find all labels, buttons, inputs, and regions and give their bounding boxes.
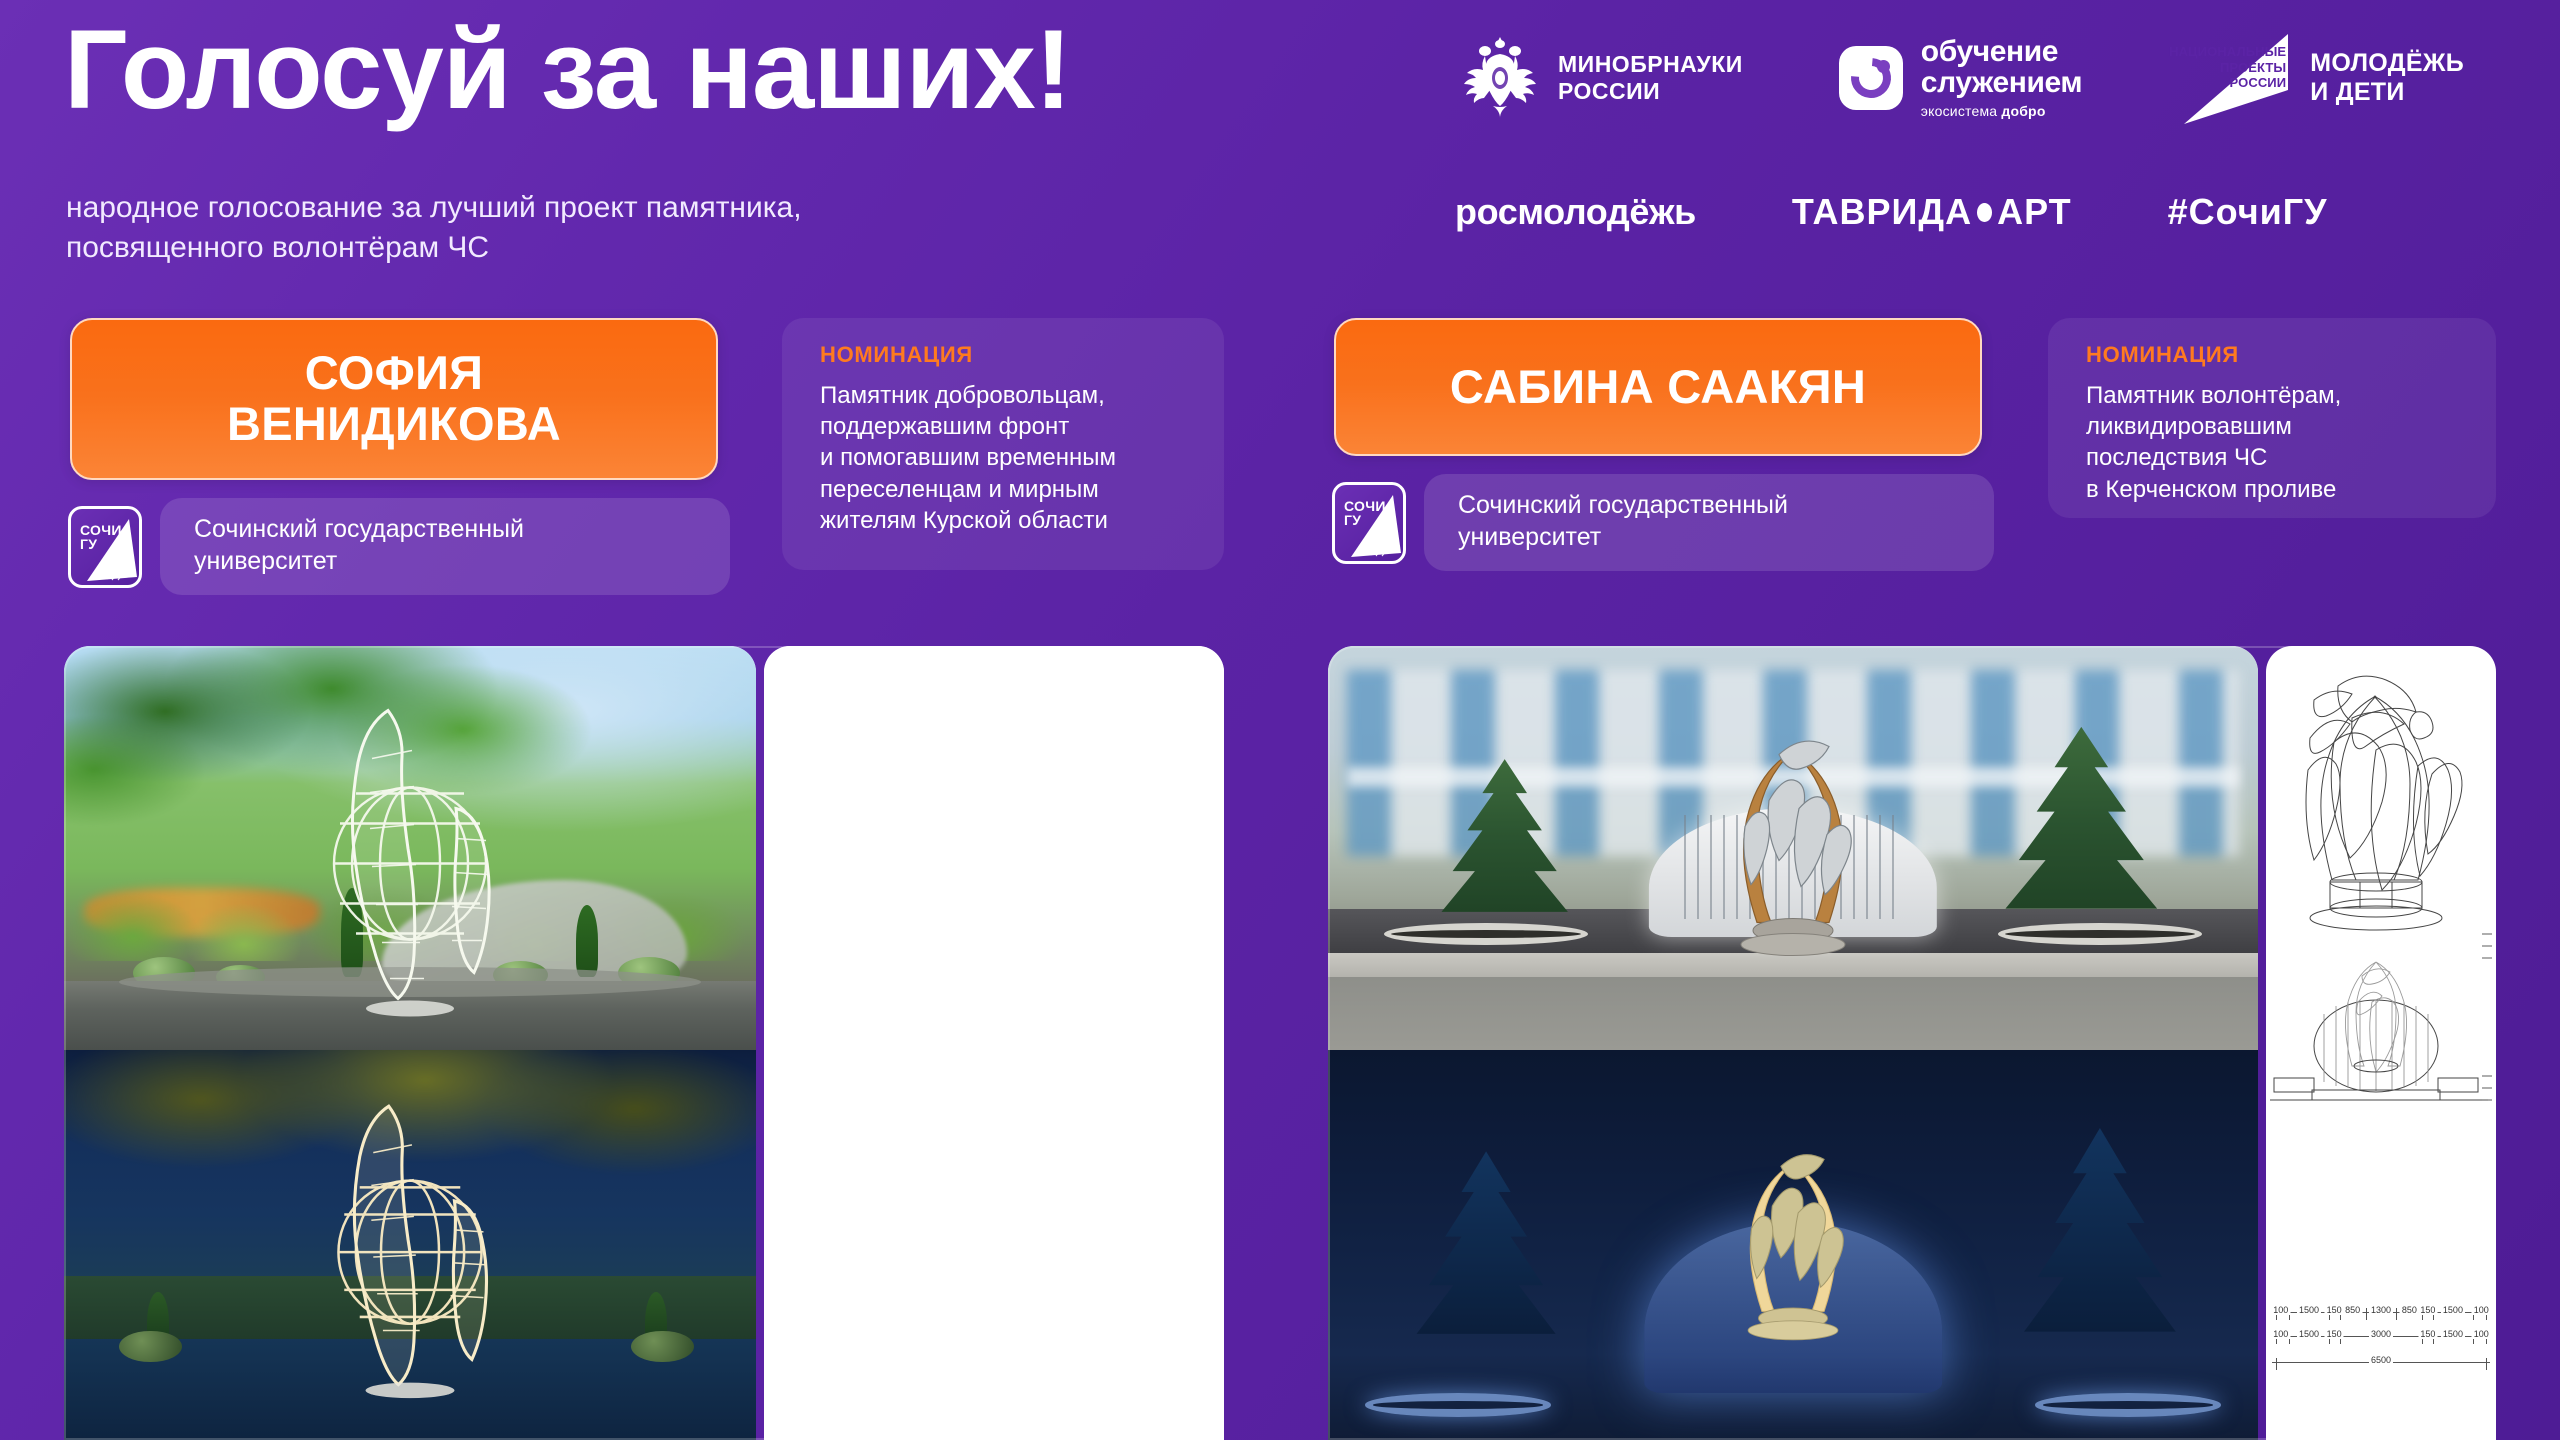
dolphin-sculpture-icon	[1683, 708, 1903, 963]
technical-drawing-icon	[2266, 646, 2496, 1306]
nomination-description: Памятник добровольцам, поддержавшим фрон…	[820, 380, 1206, 536]
obuchenie-sluzheniem-logo: обучение служением экосистема добро	[1839, 37, 2082, 119]
national-projects-flag-label: НАЦИОНАЛЬНЫЕ ПРОЕКТЫ РОССИИ	[2169, 44, 2286, 91]
dimension-total-value: 6500	[2369, 1355, 2393, 1365]
dimension-value: 150	[2325, 1329, 2344, 1339]
university-row: СОЧИ ГУ Сочинский государственный универ…	[68, 498, 730, 595]
nomination-panel: НОМИНАЦИЯ Памятник добровольцам, поддерж…	[782, 318, 1224, 570]
dimension-value: 1500	[2297, 1305, 2321, 1315]
dimension-value: 850	[2343, 1305, 2362, 1315]
nomination-label: НОМИНАЦИЯ	[820, 342, 973, 368]
sochigu-hashtag-wordmark: #СочиГУ	[2168, 191, 2328, 233]
dimension-value: 100	[2472, 1329, 2491, 1339]
university-name-pill: Сочинский государственный университет	[1424, 474, 1994, 571]
dimension-value: 100	[2271, 1305, 2290, 1315]
rosmolodezh-wordmark: росмолодёжь	[1455, 191, 1696, 233]
obuchenie-sluzheniem-label: обучение служением	[1921, 37, 2082, 98]
national-projects-flag-icon: НАЦИОНАЛЬНЫЕ ПРОЕКТЫ РОССИИ	[2178, 30, 2290, 126]
partner-logos-row-primary: МИНОБРНАУКИ РОССИИ обучение служением эк…	[1460, 28, 2464, 128]
tavrida-art-wordmark: ТАВРИДА АРТ	[1792, 191, 2072, 233]
candidate-gallery-sabina: 100 1500 150 850 1300 850 150 1500 100	[1328, 646, 2496, 1440]
dimension-value: 100	[2271, 1329, 2290, 1339]
dimension-value: 1300	[2369, 1305, 2393, 1315]
dimension-row-top: 100 1500 150 850 1300 850 150 1500 100	[2272, 1312, 2490, 1326]
nomination-panel: НОМИНАЦИЯ Памятник волонтёрам, ликвидиро…	[2048, 318, 2496, 518]
dolphin-sculpture-lit-icon	[1698, 1125, 1888, 1350]
candidate-name-label: САБИНА СААКЯН	[1450, 362, 1866, 413]
dimension-value: 850	[2400, 1305, 2419, 1315]
minobrnauki-logo: МИНОБРНАУКИ РОССИИ	[1460, 32, 1743, 124]
dimension-value: 1500	[2297, 1329, 2321, 1339]
dimension-value: 150	[2325, 1305, 2344, 1315]
dimension-value: 1500	[2441, 1305, 2465, 1315]
globe-wings-sculpture-icon	[260, 689, 560, 1024]
russian-coat-of-arms-icon	[1460, 32, 1540, 124]
page-header: Голосуй за наших! народное голосование з…	[0, 0, 2560, 300]
monument-wireframe-sketch[interactable]	[764, 646, 1224, 1440]
monument-render-photos[interactable]	[64, 646, 756, 1440]
dimension-value: 150	[2418, 1305, 2437, 1315]
ecosystem-word: экосистема	[1921, 103, 2002, 119]
candidate-name-badge[interactable]: САБИНА СААКЯН	[1334, 318, 1982, 456]
dimension-value: 1500	[2441, 1329, 2465, 1339]
dobro-word: добро	[2001, 103, 2045, 119]
dolphin-monument-technical-drawing[interactable]: 100 1500 150 850 1300 850 150 1500 100	[2266, 646, 2496, 1440]
dimension-row-middle: 100 1500 150 3000 150 1500 100	[2272, 1336, 2490, 1350]
obuchenie-sluzheniem-icon	[1839, 46, 1903, 110]
tavrida-word: ТАВРИДА	[1792, 191, 1972, 233]
dimension-row-total: 6500	[2272, 1362, 2490, 1376]
page-title: Голосуй за наших!	[64, 14, 1071, 126]
sochi-gu-logo-icon: СОЧИ ГУ	[68, 506, 142, 588]
candidate-name-badge[interactable]: СОФИЯ ВЕНИДИКОВА	[70, 318, 718, 480]
partner-logos-row-secondary: росмолодёжь ТАВРИДА АРТ #СочиГУ	[1455, 176, 2328, 248]
dolphin-monument-photos[interactable]	[1328, 646, 2258, 1440]
candidate-name-label: СОФИЯ ВЕНИДИКОВА	[227, 348, 561, 450]
dimension-value: 3000	[2369, 1329, 2393, 1339]
candidate-gallery-sofia	[64, 646, 1224, 1440]
molodezh-i-deti-label: МОЛОДЁЖЬ И ДЕТИ	[2310, 49, 2464, 107]
tavrida-dot-icon	[1977, 203, 1992, 222]
monument-render-day[interactable]	[64, 646, 756, 1050]
dimension-value: 150	[2418, 1329, 2437, 1339]
university-name-pill: Сочинский государственный университет	[160, 498, 730, 595]
national-projects-logo: НАЦИОНАЛЬНЫЕ ПРОЕКТЫ РОССИИ МОЛОДЁЖЬ И Д…	[2178, 30, 2464, 126]
nomination-label: НОМИНАЦИЯ	[2086, 342, 2239, 368]
dolphin-monument-render-night[interactable]	[1328, 1050, 2258, 1440]
university-row: СОЧИ ГУ Сочинский государственный универ…	[1332, 474, 1994, 571]
obuchenie-sluzheniem-sublabel: экосистема добро	[1921, 103, 2082, 119]
art-word: АРТ	[1997, 191, 2072, 233]
sochi-gu-logo-icon: СОЧИ ГУ	[1332, 482, 1406, 564]
monument-render-night[interactable]	[64, 1050, 756, 1440]
dimension-value: 100	[2472, 1305, 2491, 1315]
nomination-description: Памятник волонтёрам, ликвидировавшим пос…	[2086, 380, 2478, 505]
globe-wings-sculpture-lit-icon	[265, 1083, 555, 1408]
minobrnauki-logo-label: МИНОБРНАУКИ РОССИИ	[1558, 51, 1743, 104]
dolphin-monument-render-day[interactable]	[1328, 646, 2258, 1050]
page-subtitle: народное голосование за лучший проект па…	[66, 188, 802, 267]
